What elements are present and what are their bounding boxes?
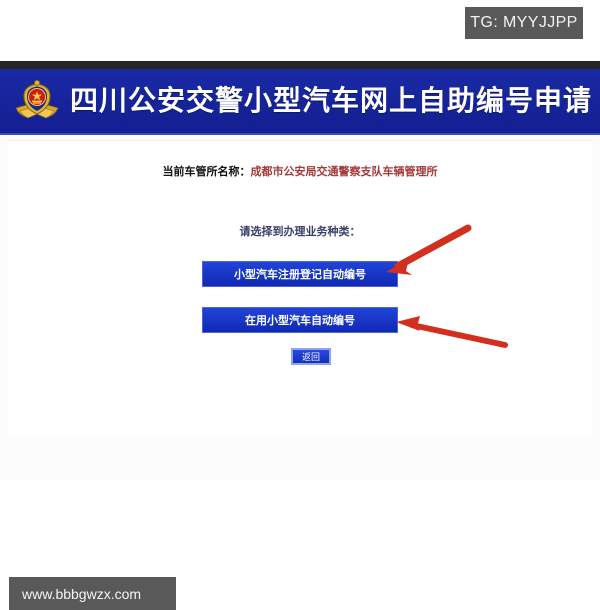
select-business-prompt: 请选择到办理业务种类： — [8, 223, 592, 239]
china-police-badge-icon — [14, 78, 60, 124]
page-title: 四川公安交警小型汽车网上自助编号申请 — [70, 87, 592, 115]
content-card: 当前车管所名称：成都市公安局交通警察支队车辆管理所 请选择到办理业务种类： 小型… — [8, 140, 592, 436]
in-use-car-button[interactable]: 在用小型汽车自动编号 — [202, 307, 398, 333]
page-header-banner: 四川公安交警小型汽车网上自助编号申请 — [0, 69, 600, 135]
current-office-line: 当前车管所名称：成都市公安局交通警察支队车辆管理所 — [8, 163, 592, 179]
register-new-car-button[interactable]: 小型汽车注册登记自动编号 — [202, 261, 398, 287]
telegram-watermark: TG: MYYJJPP — [465, 7, 583, 39]
back-button[interactable]: 返回 — [291, 348, 331, 365]
dark-separator-bar — [0, 61, 600, 69]
top-strip: TG: MYYJJPP — [0, 0, 600, 61]
current-office-value: 成都市公安局交通警察支队车辆管理所 — [251, 165, 438, 178]
page-body: 当前车管所名称：成都市公安局交通警察支队车辆管理所 请选择到办理业务种类： 小型… — [0, 137, 600, 480]
current-office-label: 当前车管所名称： — [163, 165, 251, 178]
website-watermark: www.bbbgwzx.com — [9, 577, 176, 610]
